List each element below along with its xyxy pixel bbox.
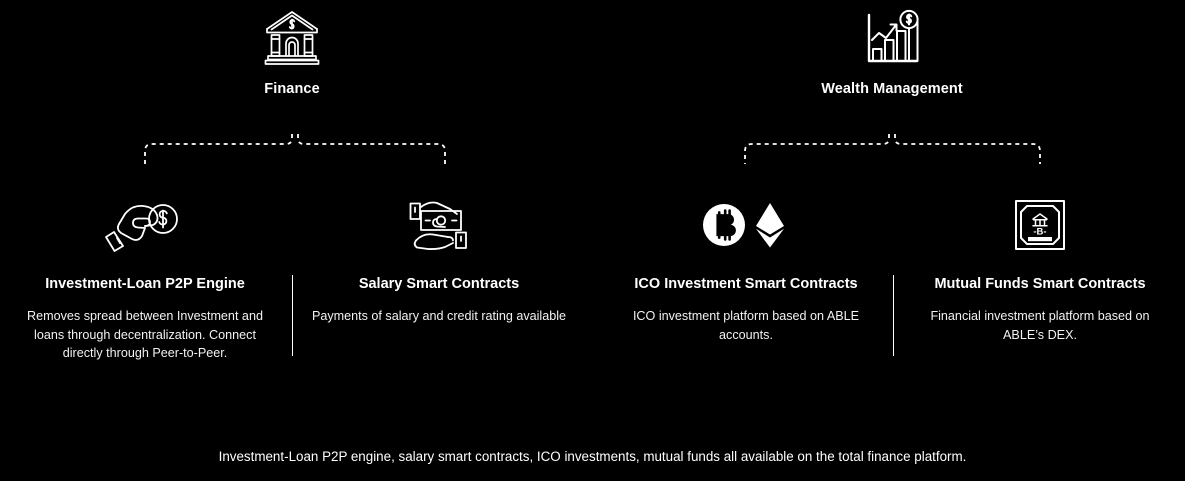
footer-caption: Investment-Loan P2P engine, salary smart… bbox=[0, 449, 1185, 465]
bank-building-dollar-icon bbox=[162, 6, 422, 72]
leaf-ico-investment-smart-contracts: ICO Investment Smart Contracts ICO inves… bbox=[601, 192, 891, 344]
top-node-label-wealth-management: Wealth Management bbox=[762, 82, 1022, 98]
bitcoin-ethereum-icon bbox=[601, 192, 891, 258]
diagram-canvas: Finance Wealth Management bbox=[0, 0, 1185, 481]
growth-bar-chart-dollar-coin-icon bbox=[762, 6, 1022, 72]
wealth-connector bbox=[722, 133, 1067, 165]
finance-connector bbox=[120, 133, 465, 165]
leaf-mutual-funds-smart-contracts: -B- Mutual Funds Smart Contracts Financi… bbox=[895, 192, 1185, 344]
leaf-description-ico-investment-smart-contracts: ICO investment platform based on ABLE ac… bbox=[601, 307, 891, 344]
column-divider-right bbox=[893, 275, 894, 356]
top-node-wealth-management: Wealth Management bbox=[762, 6, 1022, 98]
leaf-title-mutual-funds-smart-contracts: Mutual Funds Smart Contracts bbox=[895, 276, 1185, 293]
leaf-investment-loan-p2p-engine: Investment-Loan P2P Engine Removes sprea… bbox=[0, 192, 290, 362]
leaf-title-salary-smart-contracts: Salary Smart Contracts bbox=[294, 276, 584, 293]
top-node-finance: Finance bbox=[162, 6, 422, 98]
leaf-title-ico-investment-smart-contracts: ICO Investment Smart Contracts bbox=[601, 276, 891, 293]
leaf-description-mutual-funds-smart-contracts: Financial investment platform based on A… bbox=[895, 307, 1185, 344]
leaf-salary-smart-contracts: Salary Smart Contracts Payments of salar… bbox=[294, 192, 584, 326]
column-divider-left bbox=[292, 275, 293, 356]
leaf-description-salary-smart-contracts: Payments of salary and credit rating ava… bbox=[294, 307, 584, 325]
hand-holding-dollar-coin-icon bbox=[0, 192, 290, 258]
bond-certificate-icon: -B- bbox=[895, 192, 1185, 258]
leaf-title-investment-loan-p2p-engine: Investment-Loan P2P Engine bbox=[0, 276, 290, 293]
svg-text:-B-: -B- bbox=[1033, 227, 1046, 238]
top-node-label-finance: Finance bbox=[162, 82, 422, 98]
hands-exchanging-banknote-icon bbox=[294, 192, 584, 258]
leaf-description-investment-loan-p2p-engine: Removes spread between Investment and lo… bbox=[0, 307, 290, 362]
